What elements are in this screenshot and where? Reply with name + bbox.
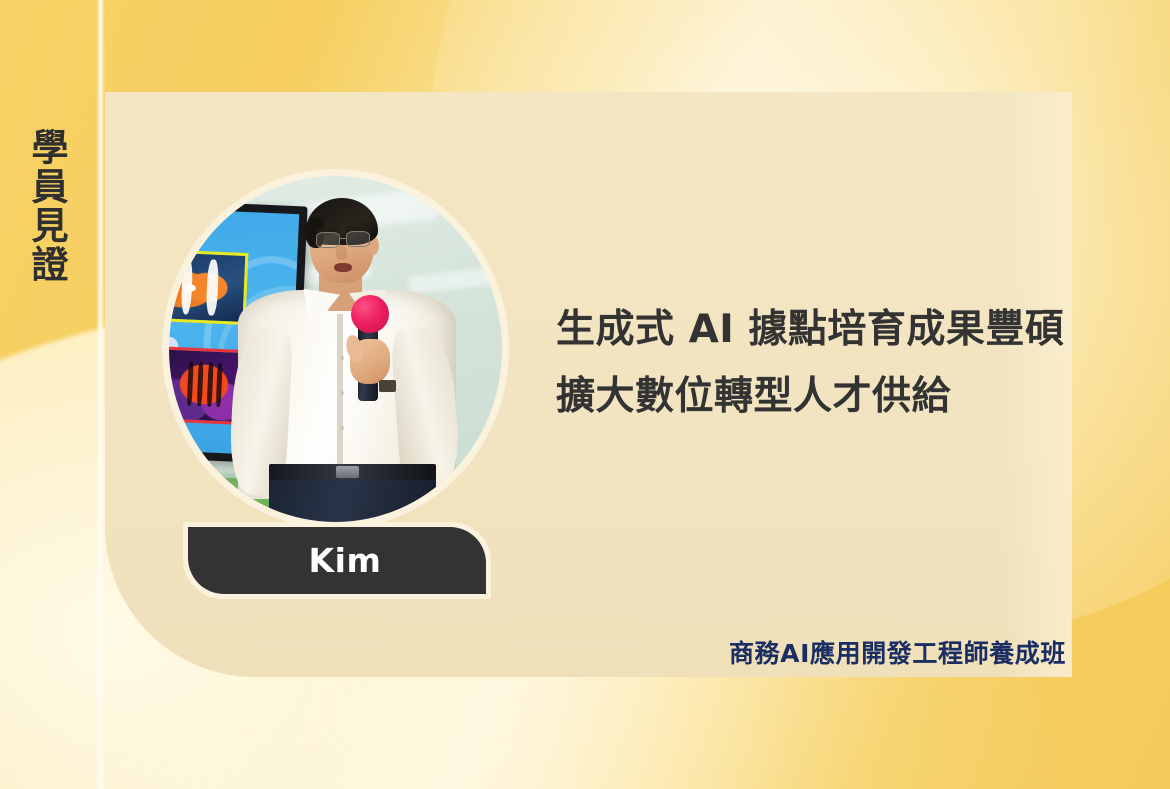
name-badge: Kim (188, 527, 486, 594)
photo-nose (336, 246, 347, 260)
speaker-photo: ? 4 (163, 170, 508, 528)
glasses-icon (316, 232, 340, 248)
headline-line-1: 生成式 AI 據點培育成果豐碩 (556, 296, 1096, 363)
glasses-bridge (340, 238, 347, 239)
section-label-vertical: 學員見證 (24, 128, 76, 284)
photo-shirt-button (340, 391, 344, 395)
photo-wristwatch (379, 380, 396, 392)
vertical-light-stripe (96, 0, 105, 789)
speaker-name: Kim (292, 541, 381, 580)
headline: 生成式 AI 據點培育成果豐碩 擴大數位轉型人才供給 (556, 296, 1096, 430)
speaker-photo-clip: ? 4 (168, 175, 503, 523)
testimonial-card: 學員見證 ? (0, 0, 1170, 789)
headline-line-2: 擴大數位轉型人才供給 (556, 363, 1096, 430)
microphone-icon (351, 295, 390, 333)
slide-image-clownfish (168, 249, 248, 325)
photo-shirt-button (340, 356, 344, 360)
course-name: 商務AI應用開發工程師養成班 (0, 634, 1066, 670)
photo-belt-buckle (336, 466, 359, 478)
photo-shirt-button (340, 426, 344, 430)
glasses-icon (346, 231, 370, 247)
photo-mouth (334, 263, 352, 272)
slide-fish-small (196, 210, 223, 233)
